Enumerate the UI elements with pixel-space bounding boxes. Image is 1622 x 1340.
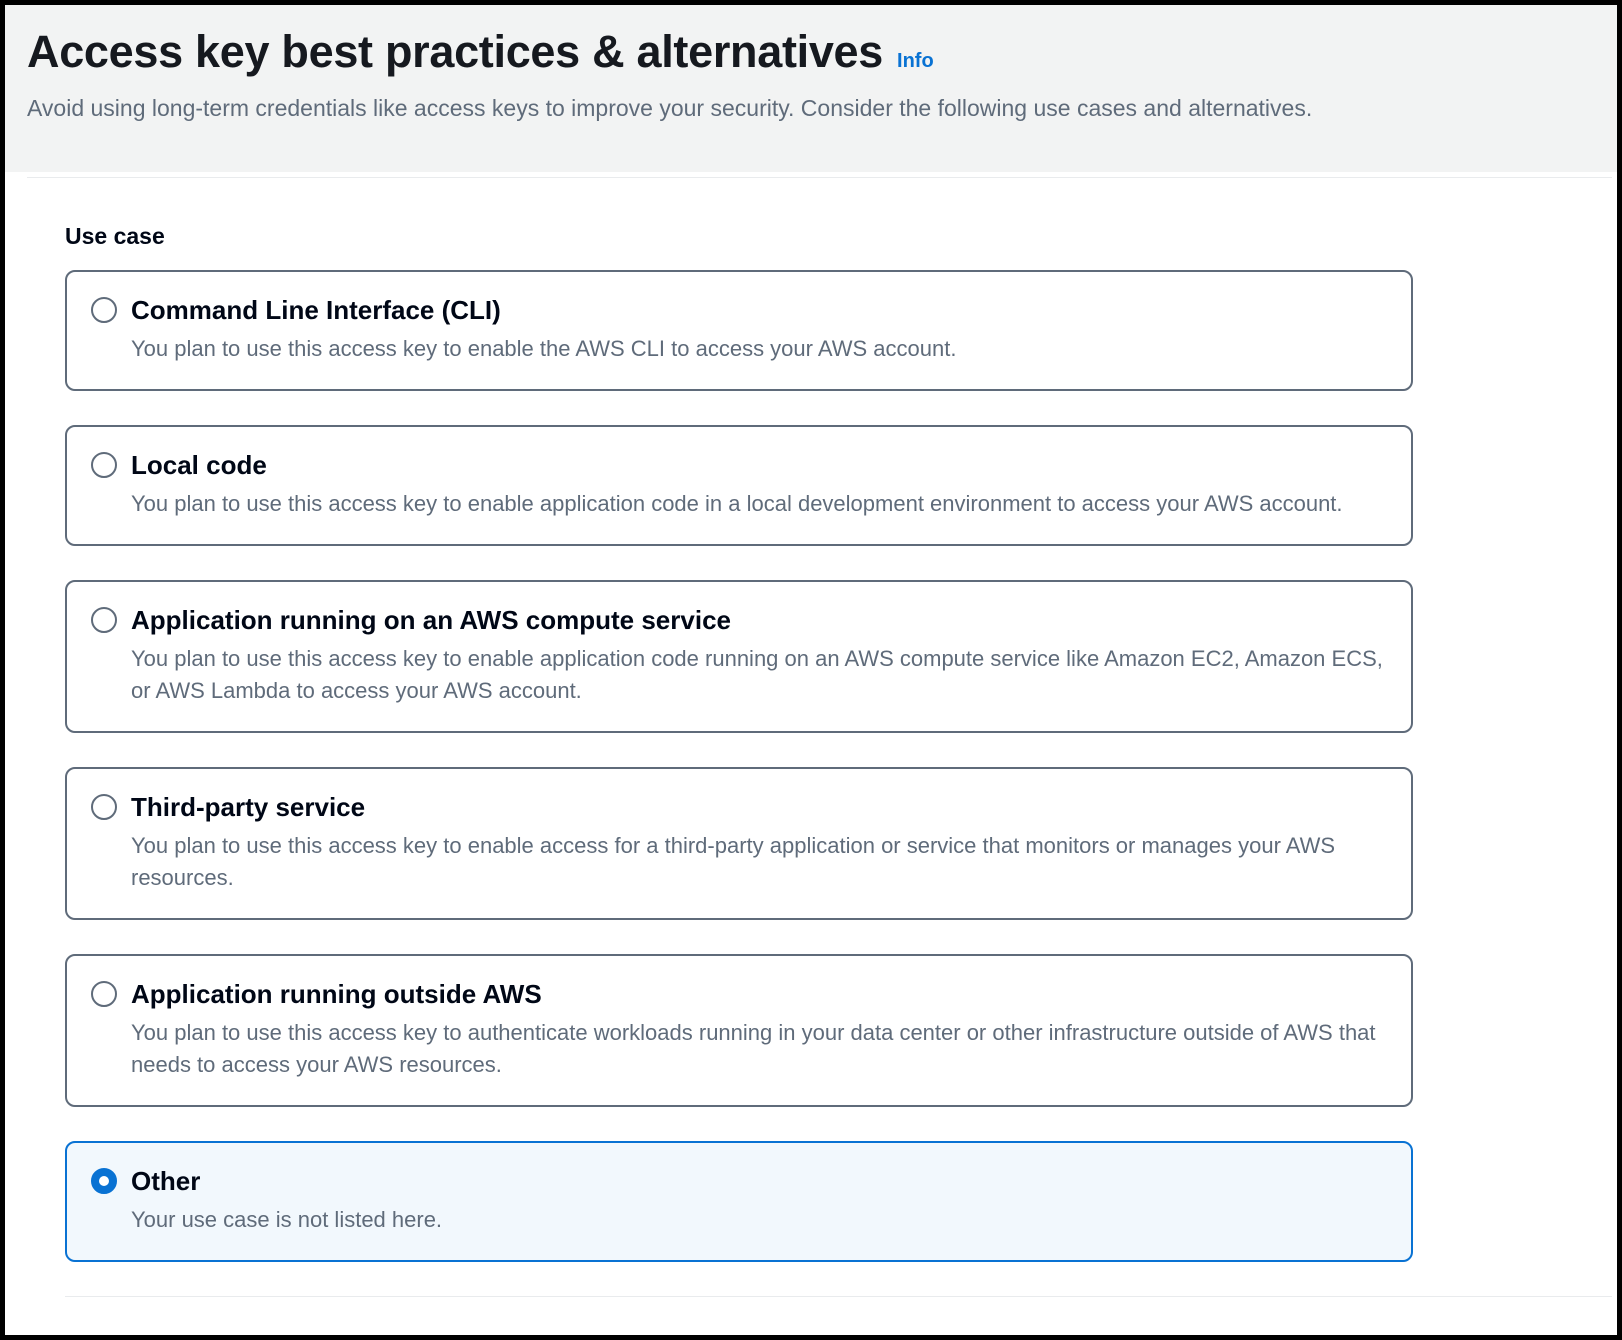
- use-case-option-third-party-service[interactable]: Third-party service You plan to use this…: [65, 767, 1413, 920]
- title-row: Access key best practices & alternatives…: [27, 23, 1617, 81]
- form-container: Use case Command Line Interface (CLI) Yo…: [27, 178, 1612, 1330]
- option-header: Application running on an AWS compute se…: [91, 604, 1387, 636]
- page-subtitle: Avoid using long-term credentials like a…: [27, 93, 1617, 123]
- radio-icon[interactable]: [91, 297, 117, 323]
- use-case-option-other[interactable]: Other Your use case is not listed here.: [65, 1141, 1413, 1262]
- use-case-option-cli[interactable]: Command Line Interface (CLI) You plan to…: [65, 270, 1413, 391]
- info-link[interactable]: Info: [897, 50, 934, 73]
- use-case-label: Use case: [65, 222, 1612, 250]
- use-case-option-application-outside-aws[interactable]: Application running outside AWS You plan…: [65, 954, 1413, 1107]
- option-header: Command Line Interface (CLI): [91, 294, 1387, 326]
- radio-icon-selected[interactable]: [91, 1168, 117, 1194]
- option-header: Local code: [91, 449, 1387, 481]
- option-description: You plan to use this access key to enabl…: [131, 488, 1386, 520]
- option-description: Your use case is not listed here.: [131, 1204, 1386, 1236]
- option-label: Application running on an AWS compute se…: [131, 604, 731, 636]
- radio-icon[interactable]: [91, 794, 117, 820]
- radio-icon[interactable]: [91, 607, 117, 633]
- access-key-best-practices-screen: Access key best practices & alternatives…: [0, 0, 1622, 1340]
- option-header: Application running outside AWS: [91, 978, 1387, 1010]
- option-header: Third-party service: [91, 791, 1387, 823]
- option-description: You plan to use this access key to enabl…: [131, 643, 1386, 707]
- page-title: Access key best practices & alternatives: [27, 23, 883, 81]
- option-description: You plan to use this access key to enabl…: [131, 830, 1386, 894]
- radio-icon[interactable]: [91, 452, 117, 478]
- content-panel: Use case Command Line Interface (CLI) Yo…: [27, 177, 1612, 1330]
- option-description: You plan to use this access key to authe…: [131, 1017, 1386, 1081]
- radio-icon[interactable]: [91, 981, 117, 1007]
- option-label: Command Line Interface (CLI): [131, 294, 501, 326]
- use-case-option-aws-compute-service[interactable]: Application running on an AWS compute se…: [65, 580, 1413, 733]
- use-case-option-local-code[interactable]: Local code You plan to use this access k…: [65, 425, 1413, 546]
- option-description: You plan to use this access key to enabl…: [131, 333, 1386, 365]
- option-header: Other: [91, 1165, 1387, 1197]
- next-section-divider: [65, 1296, 1612, 1330]
- option-label: Application running outside AWS: [131, 978, 542, 1010]
- page-header: Access key best practices & alternatives…: [5, 5, 1617, 172]
- use-case-radio-group[interactable]: Command Line Interface (CLI) You plan to…: [65, 270, 1413, 1262]
- option-label: Other: [131, 1165, 200, 1197]
- option-label: Third-party service: [131, 791, 365, 823]
- option-label: Local code: [131, 449, 267, 481]
